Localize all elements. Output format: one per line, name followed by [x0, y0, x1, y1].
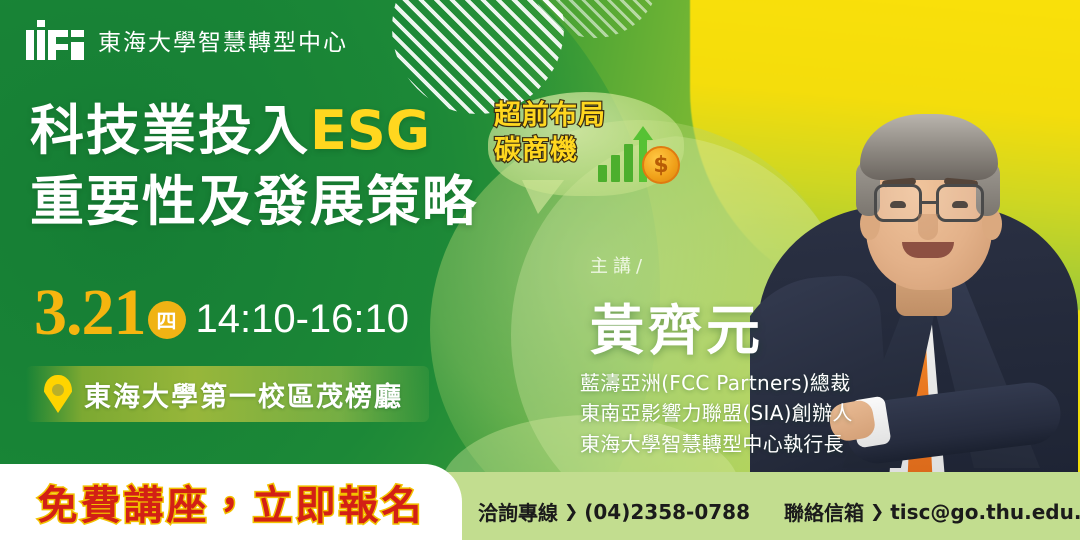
contact-items: 洽詢專線 ❯ (04)2358-0788 聯絡信箱 ❯ tisc@go.thu.…: [478, 497, 1080, 526]
event-datetime: 3.21 四 14:10-16:10: [34, 282, 409, 345]
email-contact[interactable]: 聯絡信箱 ❯ tisc@go.thu.edu.tw: [784, 497, 1080, 526]
chevron-right-icon-2: ❯: [870, 502, 884, 522]
growth-chart-graphic: $: [596, 130, 680, 190]
event-date: 3.21: [34, 282, 146, 345]
dollar-coin-icon: $: [642, 146, 680, 184]
email-label: 聯絡信箱: [784, 497, 864, 526]
phone-value: (04)2358-0788: [584, 500, 750, 524]
highlight-badge: 超前布局 碳商機 $: [488, 92, 684, 196]
bar-chart-icon-3: [624, 144, 633, 182]
cta-text: 免費講座，立即報名: [38, 473, 425, 531]
speaker-label: 主講/: [590, 252, 764, 278]
bar-chart-icon-2: [611, 155, 620, 182]
event-poster: 東海大學智慧轉型中心 科技業投入ESG 重要性及發展策略 超前布局 碳商機 $ …: [0, 0, 1080, 540]
brand-header: 東海大學智慧轉型中心: [26, 20, 348, 60]
title-line-2: 重要性及發展策略: [30, 166, 478, 237]
speaker-label-text: 主講: [590, 256, 636, 277]
map-pin-hole: [52, 384, 64, 396]
speaker-credentials: 藍濤亞洲(FCC Partners)總裁 東南亞影響力聯盟(SIA)創辦人 東海…: [580, 368, 853, 459]
poster-title: 科技業投入ESG 重要性及發展策略: [30, 95, 478, 238]
title-esg-accent: ESG: [310, 99, 430, 162]
cta-band[interactable]: 免費講座，立即報名: [0, 464, 462, 540]
event-time: 14:10-16:10: [196, 299, 410, 339]
mouth: [902, 242, 954, 258]
title-line-1-text: 科技業投入: [30, 99, 310, 162]
org-name: 東海大學智慧轉型中心: [98, 23, 348, 57]
nose: [918, 214, 938, 240]
badge-text: 超前布局 碳商機: [494, 100, 606, 168]
venue-name: 東海大學第一校區茂榜廳: [84, 375, 403, 414]
map-pin-icon: [44, 375, 72, 413]
bar-chart-icon: [598, 165, 607, 182]
hair: [860, 114, 998, 180]
glasses-lens-left: [874, 184, 922, 222]
title-line-1: 科技業投入ESG: [30, 95, 478, 166]
credential-line: 東南亞影響力聯盟(SIA)創辦人: [580, 398, 853, 428]
up-arrow-head-icon: [633, 126, 653, 140]
speaker-label-slash: /: [636, 256, 647, 277]
speaker-name: 黃齊元: [590, 286, 764, 365]
weekday-badge: 四: [148, 301, 186, 339]
badge-line-2: 碳商機: [494, 135, 606, 168]
email-value: tisc@go.thu.edu.tw: [890, 500, 1080, 524]
phone-label: 洽詢專線: [478, 497, 558, 526]
event-venue: 東海大學第一校區茂榜廳: [26, 366, 429, 422]
glasses-bridge: [922, 201, 936, 204]
tisc-logo-icon: [26, 20, 84, 60]
credential-line: 東海大學智慧轉型中心執行長: [580, 429, 853, 459]
badge-line-1: 超前布局: [494, 100, 606, 133]
speaker-block: 主講/ 黃齊元: [590, 252, 764, 365]
glasses-lens-right: [936, 184, 984, 222]
phone-contact[interactable]: 洽詢專線 ❯ (04)2358-0788: [478, 497, 750, 526]
credential-line: 藍濤亞洲(FCC Partners)總裁: [580, 368, 853, 398]
chevron-right-icon: ❯: [564, 502, 578, 522]
